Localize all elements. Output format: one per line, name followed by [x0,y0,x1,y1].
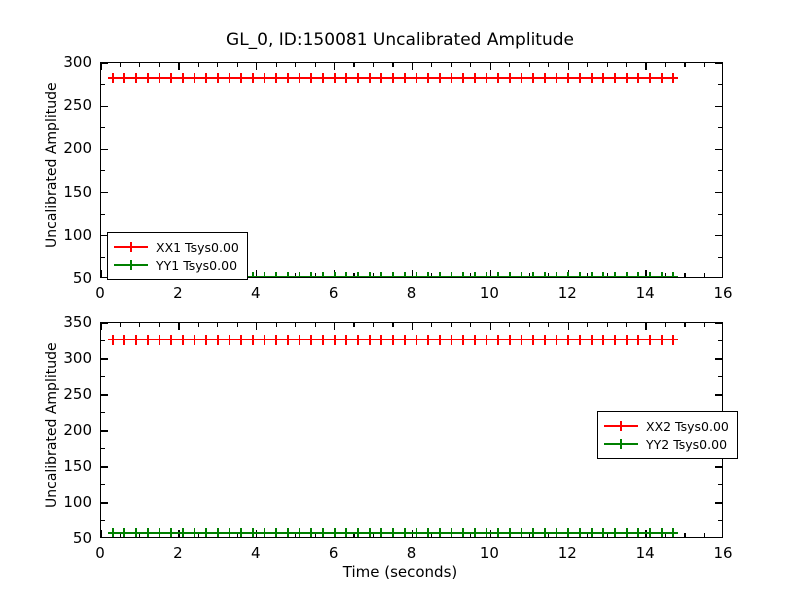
x-minor-tick [607,63,608,67]
marker-vertical [240,335,242,345]
x-tick-2 [178,323,179,330]
marker-vertical [264,272,266,277]
y-minor-tick [101,376,105,377]
x-minor-tick [353,63,354,67]
y-tick-200 [715,149,722,150]
marker-vertical [299,528,301,537]
marker-vertical [310,272,312,277]
marker-vertical [567,272,569,277]
marker-vertical [299,335,301,345]
marker-vertical [322,335,324,345]
marker-vertical [544,73,546,83]
legend-entry[interactable]: YY2 Tsys0.00 [604,435,729,453]
marker-vertical [416,528,418,537]
marker-vertical [299,73,301,83]
marker-vertical [591,528,593,537]
marker-vertical [649,335,651,345]
marker-vertical [672,73,674,83]
x-minor-tick [665,63,666,67]
x-tick-label-6: 6 [304,284,364,302]
x-minor-tick [431,63,432,67]
marker-vertical [602,528,604,537]
marker-vertical [310,335,312,345]
marker-vertical [521,73,523,83]
x-minor-tick [276,63,277,67]
marker-vertical [602,73,604,83]
marker-vertical [404,73,406,83]
x-tick-label-2: 2 [148,544,208,562]
x-minor-tick [120,323,121,327]
y-tick-250 [101,394,108,395]
y-minor-tick [718,257,722,258]
marker-vertical [462,73,464,83]
marker-vertical [275,335,277,345]
marker-vertical [532,528,534,537]
marker-vertical [486,335,488,345]
x-tick-label-4: 4 [226,284,286,302]
marker-vertical [182,528,184,537]
marker-vertical [614,73,616,83]
marker-vertical [509,335,511,345]
marker-vertical [416,73,418,83]
marker-vertical [451,335,453,345]
marker-vertical [462,272,464,277]
marker-vertical [427,528,429,537]
marker-vertical [334,528,336,537]
x-tick-0 [101,530,102,537]
x-tick-label-2: 2 [148,284,208,302]
legend-swatch-XX1 [114,240,148,254]
marker-vertical [439,272,441,277]
x-tick-0 [101,323,102,330]
x-minor-tick [392,323,393,327]
x-minor-tick [392,63,393,67]
marker-vertical [614,528,616,537]
marker-vertical [521,335,523,345]
marker-vertical [579,73,581,83]
x-minor-tick [237,63,238,67]
marker-vertical [112,335,114,345]
marker-vertical [462,528,464,537]
marker-vertical [240,73,242,83]
marker-vertical [544,528,546,537]
y-minor-tick [101,340,105,341]
marker-vertical [661,335,663,345]
y-minor-tick [101,448,105,449]
x-tick-label-6: 6 [304,544,364,562]
x-minor-tick [704,323,705,327]
marker-vertical [170,528,172,537]
marker-vertical [159,528,161,537]
y-minor-tick [718,214,722,215]
marker-vertical [229,528,231,537]
marker-vertical [392,73,394,83]
marker-vertical [264,528,266,537]
marker-vertical [264,73,266,83]
x-minor-tick [587,323,588,327]
x-minor-tick [509,323,510,327]
marker-vertical [194,528,196,537]
marker-vertical [147,73,149,83]
y-minor-tick [718,520,722,521]
x-minor-tick [139,323,140,327]
x-minor-tick [237,323,238,327]
marker-vertical [357,528,359,537]
marker-vertical [427,335,429,345]
legend-entry[interactable]: XX1 Tsys0.00 [114,238,239,256]
y-minor-tick [101,84,105,85]
marker-vertical [416,272,418,277]
marker-vertical [135,528,137,537]
y-tick-300 [715,358,722,359]
marker-vertical [123,528,125,537]
marker-vertical [264,335,266,345]
y-minor-tick [718,170,722,171]
marker-vertical [369,73,371,83]
marker-vertical [486,73,488,83]
marker-vertical [532,272,534,277]
marker-vertical [649,528,651,537]
y-tick-label-300: 300 [42,53,92,71]
figure-canvas: GL_0, ID:150081 Uncalibrated Amplitude 0… [0,0,800,600]
y-minor-tick [101,127,105,128]
marker-vertical [252,73,254,83]
x-minor-tick [217,323,218,327]
marker-vertical [322,528,324,537]
x-tick-label-12: 12 [537,284,597,302]
marker-vertical [322,272,324,277]
x-minor-tick [704,273,705,277]
marker-vertical [544,335,546,345]
x-tick-label-10: 10 [459,544,519,562]
marker-vertical [637,272,639,277]
x-minor-tick [529,63,530,67]
y-tick-100 [715,502,722,503]
marker-vertical [661,528,663,537]
marker-vertical [334,272,336,277]
y-minor-tick [718,127,722,128]
marker-vertical [147,528,149,537]
y-tick-250 [715,106,722,107]
x-minor-tick [373,323,374,327]
marker-vertical [649,73,651,83]
y-minor-tick [101,214,105,215]
marker-vertical [544,272,546,277]
x-minor-tick [548,323,549,327]
marker-vertical [661,73,663,83]
marker-vertical [637,335,639,345]
x-minor-tick [587,63,588,67]
y-tick-300 [101,358,108,359]
marker-vertical [626,73,628,83]
legend-top[interactable]: XX1 Tsys0.00YY1 Tsys0.00 [107,232,248,280]
marker-vertical [380,335,382,345]
marker-vertical [182,335,184,345]
marker-vertical [474,528,476,537]
marker-vertical [509,73,511,83]
x-minor-tick [353,323,354,327]
x-minor-tick [217,63,218,67]
x-minor-tick [548,63,549,67]
marker-vertical [404,528,406,537]
marker-vertical [427,272,429,277]
y-tick-200 [101,430,108,431]
marker-vertical [112,528,114,537]
x-minor-tick [295,63,296,67]
marker-vertical [229,73,231,83]
x-tick-label-12: 12 [537,544,597,562]
x-tick-label-8: 8 [382,284,442,302]
y-tick-300 [101,63,108,64]
legend-label: YY1 Tsys0.00 [156,258,237,273]
marker-vertical [439,335,441,345]
marker-vertical [310,528,312,537]
marker-vertical [135,73,137,83]
x-minor-tick [684,63,685,67]
x-minor-tick [451,323,452,327]
marker-vertical [345,528,347,537]
marker-vertical [602,272,604,277]
marker-vertical [579,528,581,537]
marker-vertical [649,272,651,277]
marker-vertical [614,335,616,345]
y-minor-tick [718,376,722,377]
x-tick-label-16: 16 [693,544,753,562]
marker-vertical [357,73,359,83]
marker-vertical [556,528,558,537]
marker-vertical [509,272,511,277]
marker-vertical [672,272,674,277]
x-tick-8 [412,63,413,70]
marker-vertical [217,528,219,537]
x-minor-tick [120,63,121,67]
x-minor-tick [704,533,705,537]
marker-vertical [451,528,453,537]
x-minor-tick [684,323,685,327]
marker-vertical [567,73,569,83]
marker-vertical [275,528,277,537]
marker-vertical [322,73,324,83]
x-minor-tick [529,323,530,327]
x-tick-10 [490,323,491,330]
legend-marker-vertical [620,439,622,449]
legend-marker-vertical [620,421,622,431]
marker-vertical [567,528,569,537]
x-minor-tick [509,63,510,67]
marker-vertical [474,73,476,83]
marker-vertical [439,73,441,83]
marker-vertical [159,335,161,345]
page-title: GL_0, ID:150081 Uncalibrated Amplitude [0,30,800,50]
x-tick-2 [178,63,179,70]
y-tick-150 [101,466,108,467]
marker-vertical [240,528,242,537]
marker-vertical [637,528,639,537]
x-tick-6 [334,63,335,70]
marker-vertical [217,335,219,345]
y-tick-label-50: 50 [42,529,92,547]
marker-vertical [567,335,569,345]
y-tick-label-350: 350 [42,313,92,331]
marker-vertical [591,272,593,277]
marker-vertical [135,335,137,345]
y-tick-150 [101,192,108,193]
y-tick-100 [715,235,722,236]
x-axis-label: Time (seconds) [0,563,800,581]
y-minor-tick [718,484,722,485]
legend-marker-vertical [130,242,132,252]
marker-vertical [334,73,336,83]
x-minor-tick [470,323,471,327]
x-tick-label-14: 14 [615,544,675,562]
y-minor-tick [101,257,105,258]
marker-vertical [345,272,347,277]
marker-vertical [637,73,639,83]
marker-vertical [591,335,593,345]
marker-vertical [556,272,558,277]
legend-entry[interactable]: XX2 Tsys0.00 [604,417,729,435]
marker-vertical [182,73,184,83]
y-axis-label-bottom: Uncalibrated Amplitude [44,342,60,508]
x-minor-tick [198,323,199,327]
x-tick-12 [568,323,569,330]
x-tick-12 [568,63,569,70]
marker-vertical [369,528,371,537]
marker-vertical [532,73,534,83]
marker-vertical [287,73,289,83]
marker-vertical [579,272,581,277]
x-tick-label-4: 4 [226,544,286,562]
marker-vertical [252,272,254,277]
marker-vertical [602,335,604,345]
marker-vertical [486,272,488,277]
marker-vertical [287,272,289,277]
y-tick-150 [715,192,722,193]
marker-vertical [123,73,125,83]
marker-vertical [369,335,371,345]
marker-vertical [392,335,394,345]
x-minor-tick [684,273,685,277]
marker-vertical [497,73,499,83]
y-minor-tick [101,170,105,171]
marker-vertical [369,272,371,277]
x-tick-8 [412,323,413,330]
marker-vertical [497,335,499,345]
marker-vertical [614,272,616,277]
y-tick-250 [715,394,722,395]
marker-vertical [194,335,196,345]
marker-vertical [229,335,231,345]
x-minor-tick [159,323,160,327]
marker-vertical [159,73,161,83]
marker-vertical [661,272,663,277]
marker-vertical [474,272,476,277]
y-tick-250 [101,106,108,107]
x-minor-tick [315,323,316,327]
x-tick-label-8: 8 [382,544,442,562]
marker-vertical [310,73,312,83]
marker-vertical [392,528,394,537]
marker-vertical [556,73,558,83]
x-tick-label-14: 14 [615,284,675,302]
x-minor-tick [684,533,685,537]
legend-label: YY2 Tsys0.00 [646,437,727,452]
y-tick-200 [101,149,108,150]
y-tick-150 [715,466,722,467]
marker-vertical [392,272,394,277]
x-tick-label-10: 10 [459,284,519,302]
marker-vertical [205,73,207,83]
y-minor-tick [101,484,105,485]
marker-vertical [556,335,558,345]
marker-vertical [380,73,382,83]
x-tick-label-16: 16 [693,284,753,302]
marker-vertical [427,73,429,83]
x-minor-tick [626,323,627,327]
marker-vertical [205,335,207,345]
marker-vertical [474,335,476,345]
legend-marker-vertical [130,260,132,270]
marker-vertical [451,73,453,83]
marker-vertical [252,528,254,537]
x-tick-10 [490,63,491,70]
y-minor-tick [718,340,722,341]
y-tick-label-50: 50 [42,269,92,287]
marker-vertical [217,73,219,83]
legend-entry[interactable]: YY1 Tsys0.00 [114,256,239,274]
marker-vertical [380,272,382,277]
y-tick-300 [715,63,722,64]
legend-bottom[interactable]: XX2 Tsys0.00YY2 Tsys0.00 [597,411,738,459]
x-tick-14 [645,63,646,70]
marker-vertical [252,335,254,345]
marker-vertical [521,272,523,277]
x-minor-tick [373,63,374,67]
x-minor-tick [626,63,627,67]
legend-swatch-XX2 [604,419,638,433]
x-tick-0 [101,63,102,70]
marker-vertical [497,272,499,277]
x-minor-tick [451,63,452,67]
marker-vertical [591,73,593,83]
x-minor-tick [704,63,705,67]
marker-vertical [509,528,511,537]
marker-vertical [404,272,406,277]
marker-vertical [672,335,674,345]
x-tick-4 [256,63,257,70]
y-tick-100 [101,502,108,503]
x-tick-14 [645,323,646,330]
marker-vertical [299,272,301,277]
y-tick-350 [715,323,722,324]
marker-vertical [345,73,347,83]
x-minor-tick [276,323,277,327]
x-tick-6 [334,323,335,330]
x-minor-tick [139,63,140,67]
marker-vertical [486,528,488,537]
marker-vertical [357,272,359,277]
y-minor-tick [718,84,722,85]
marker-vertical [357,335,359,345]
marker-vertical [112,73,114,83]
marker-vertical [194,73,196,83]
marker-vertical [275,272,277,277]
marker-vertical [147,335,149,345]
marker-vertical [439,528,441,537]
x-minor-tick [198,63,199,67]
legend-label: XX1 Tsys0.00 [156,240,239,255]
marker-vertical [626,528,628,537]
